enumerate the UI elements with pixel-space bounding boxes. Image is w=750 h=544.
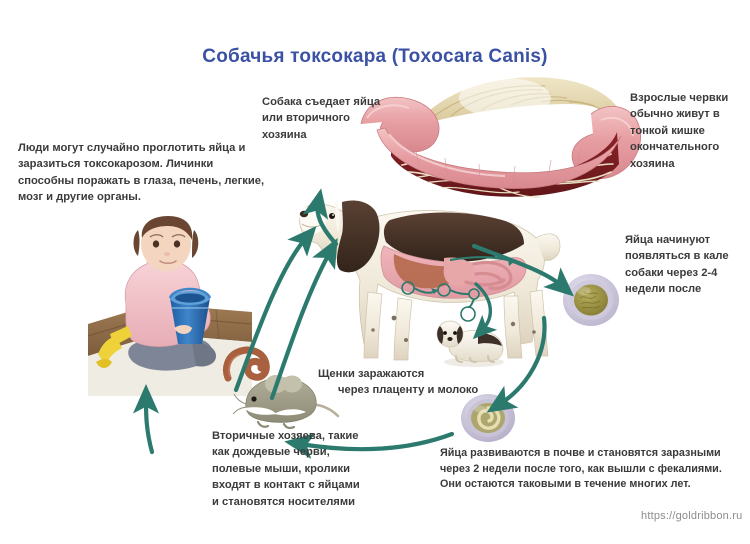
dog-anatomy-illustration: [298, 172, 564, 382]
toxocara-egg-illustration: [562, 272, 620, 328]
caption-eggs-in-feces: Яйца начинуют появляться в кале собаки ч…: [625, 232, 745, 298]
child-head: [134, 216, 199, 271]
page-title: Собачья токсокара (Toxocara Canis): [0, 46, 750, 68]
caption-adult-worms: Взрослые червки обычно живут в тонкой ки…: [630, 90, 748, 172]
arrow-hosts-to-child: [146, 400, 152, 452]
caption-puppies: Щенки заражаются через плаценту и молоко: [318, 366, 498, 399]
caption-dog-eats: Собака съедает яйца или вторичного хозяи…: [262, 94, 387, 143]
larvated-egg-illustration: [460, 392, 516, 444]
dog-head: [300, 198, 380, 272]
infographic-page: Собачья токсокара (Toxocara Canis): [0, 0, 750, 544]
caption-humans: Люди могут случайно проглотить яйца и за…: [18, 140, 268, 206]
caption-soil-eggs: Яйца развиваются в почве и становятся за…: [440, 446, 740, 493]
puppy-illustration: [432, 312, 510, 368]
caption-puppies-line1: Щенки заражаются: [318, 366, 498, 382]
caption-puppies-line2: через плаценту и молоко: [318, 382, 498, 398]
caption-secondary-hosts: Вторичные хозяева, такие как дождевые че…: [212, 428, 364, 510]
watermark-url: https://goldribbon.ru: [641, 510, 742, 522]
